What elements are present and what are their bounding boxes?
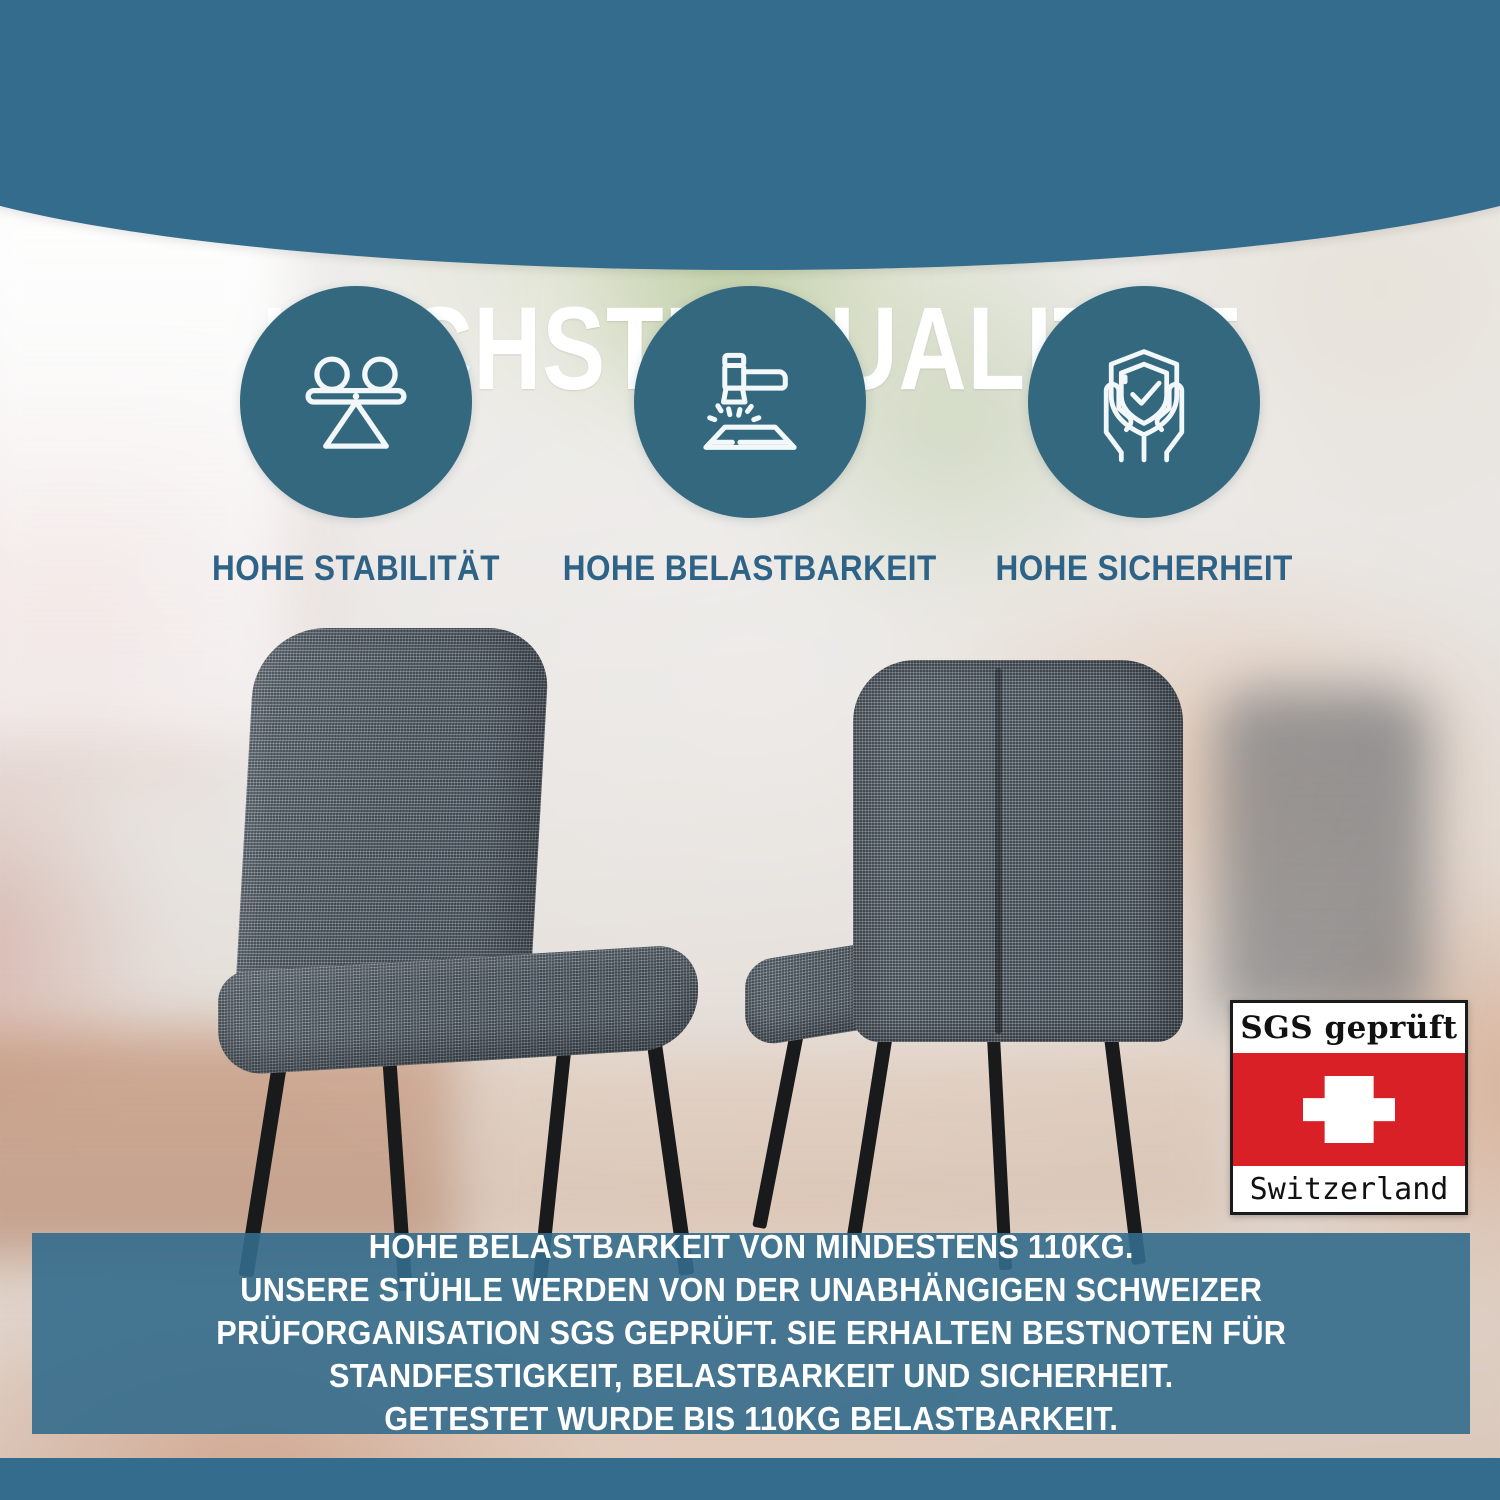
feature-icon-circle (1028, 286, 1260, 518)
header-banner (0, 0, 1500, 270)
feature-label-line1: HOHE (212, 549, 305, 588)
bottom-text-line: PRÜFORGANISATION SGS GEPRÜFT. SIE ERHALT… (216, 1312, 1286, 1355)
feature-label-stability: HOHE STABILITÄT (212, 548, 500, 589)
hammer-impact-icon (687, 339, 813, 465)
balance-scale-icon (293, 339, 419, 465)
feature-label-line1: HOHE (563, 549, 656, 588)
chair-leg (844, 1010, 897, 1259)
feature-icon-circle (634, 286, 866, 518)
product-chair-right (745, 660, 1225, 1260)
shield-check-hands-icon (1081, 339, 1207, 465)
feature-label-load-capacity: HOHE BELASTBARKEIT (563, 548, 937, 589)
feature-safety: HOHE SICHERHEIT (1028, 286, 1260, 589)
bottom-text-line: STANDFESTIGKEIT, BELASTBARKEIT UND SICHE… (216, 1355, 1286, 1398)
bottom-text-line: HOHE BELASTBARKEIT VON MINDESTENS 110KG. (216, 1226, 1286, 1269)
feature-label-line1: HOHE (995, 549, 1088, 588)
feature-row: HOHE STABILITÄT (0, 286, 1500, 589)
sgs-certification-badge: SGS geprüft Switzerland (1230, 1000, 1468, 1215)
feature-label-line2: STABILITÄT (314, 549, 500, 588)
product-chair-left (190, 628, 750, 1258)
sgs-badge-title: SGS geprüft (1233, 1003, 1465, 1053)
infographic-canvas: HÖCHSTE QUALITÄT HOHE STABILITÄT (0, 0, 1500, 1500)
feature-label-line2: SICHERHEIT (1097, 549, 1292, 588)
feature-icon-circle (240, 286, 472, 518)
chair-back-seam (995, 668, 1002, 1034)
bottom-text-line: UNSERE STÜHLE WERDEN VON DER UNABHÄNGIGE… (216, 1269, 1286, 1312)
chair-backrest (853, 660, 1183, 1042)
feature-load-capacity: HOHE BELASTBARKEIT (634, 286, 866, 589)
footer-bar (0, 1458, 1500, 1500)
bottom-text-line: GETESTET WURDE BIS 110KG BELASTBARKEIT. (216, 1398, 1286, 1441)
swiss-flag-icon (1233, 1053, 1465, 1166)
feature-label-line2: BELASTBARKEIT (665, 549, 937, 588)
sgs-badge-country: Switzerland (1233, 1166, 1465, 1212)
bottom-description-banner: HOHE BELASTBARKEIT VON MINDESTENS 110KG.… (32, 1233, 1470, 1434)
chair-backrest (234, 628, 550, 1008)
feature-label-safety: HOHE SICHERHEIT (995, 548, 1292, 589)
feature-stability: HOHE STABILITÄT (240, 286, 472, 589)
bottom-description-text: HOHE BELASTBARKEIT VON MINDESTENS 110KG.… (216, 1226, 1286, 1440)
